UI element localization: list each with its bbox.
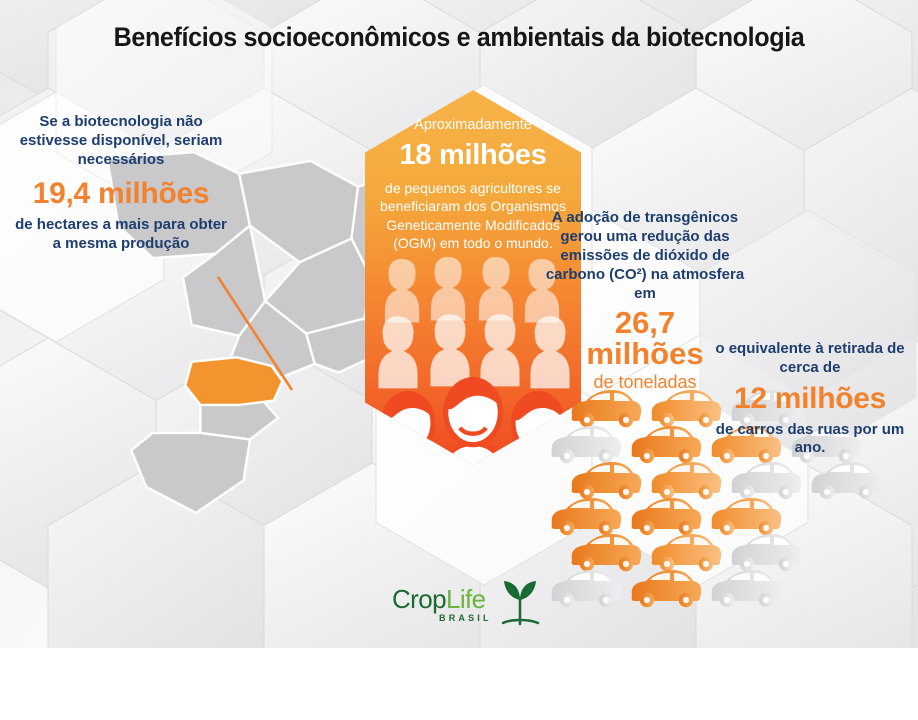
hectares-lead: Se a biotecnologia não estivesse disponí… (10, 113, 232, 170)
logo-crop-text: Crop (392, 584, 446, 614)
co2-lead: A adoção de transgênicos gerou uma reduç… (545, 209, 745, 303)
cars-figure: 12 milhões (712, 380, 908, 418)
infographic-canvas: Benefícios socioeconômicos e ambientais … (0, 0, 918, 720)
hectares-figure: 19,4 milhões (10, 175, 232, 213)
co2-figure-line1: 26,7 (545, 307, 745, 338)
farmers-figure: 18 milhões (368, 137, 578, 174)
page-title: Benefícios socioeconômicos e ambientais … (32, 22, 886, 53)
sprout-icon (497, 576, 543, 628)
logo-brasil-text: BRASIL (439, 613, 492, 623)
hexagon-background-pattern (0, 0, 918, 648)
cars-lead: o equivalente à retirada de cerca de (712, 340, 908, 378)
cars-sub: de carros das ruas por um ano. (712, 421, 908, 459)
cars-text-block: o equivalente à retirada de cerca de 12 … (712, 340, 908, 458)
hectares-text-block: Se a biotecnologia não estivesse disponí… (10, 113, 232, 254)
farmers-lead: Aproximadamente (368, 116, 578, 134)
croplife-brasil-logo: CropLife BRASIL (392, 580, 542, 638)
hectares-sub: de hectares a mais para obter a mesma pr… (10, 216, 232, 254)
logo-life-text: Life (446, 584, 486, 614)
croplife-wordmark: CropLife (392, 584, 486, 615)
